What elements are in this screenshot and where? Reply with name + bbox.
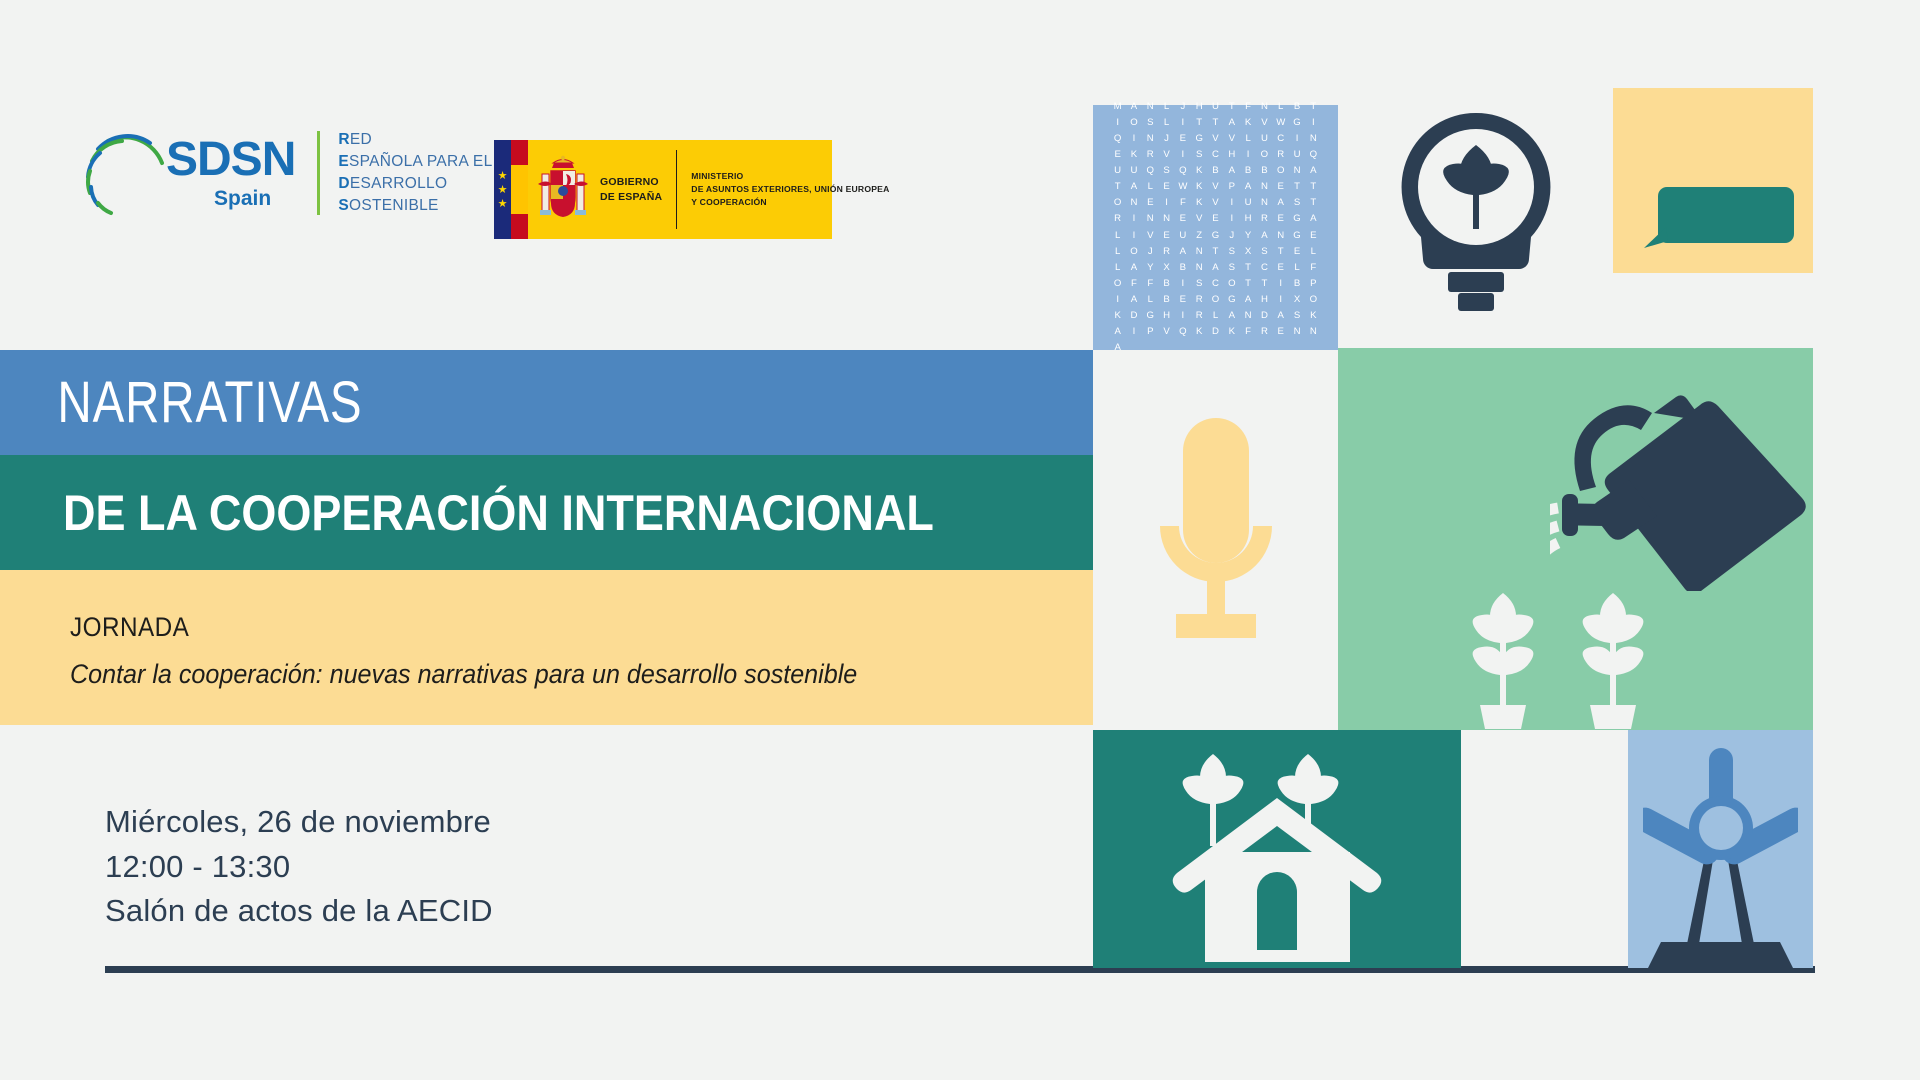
puzzle-letter: I: [1110, 115, 1126, 131]
sdsn-wordmark: SDSN Spain: [166, 136, 295, 209]
puzzle-letter: L: [1158, 99, 1174, 115]
speech-bubble-icon: [1644, 187, 1794, 249]
puzzle-letter: S: [1256, 244, 1272, 260]
eu-star-icon: ★: [498, 173, 508, 179]
ministry-line-2: DE ASUNTOS EXTERIORES, UNIÓN EUROPEA: [691, 183, 889, 196]
puzzle-letter: U: [1207, 99, 1223, 115]
puzzle-letter: T: [1273, 244, 1289, 260]
jornada-band: JORNADA Contar la cooperación: nuevas na…: [0, 570, 1093, 725]
puzzle-letter: E: [1142, 195, 1158, 211]
puzzle-letter: L: [1305, 244, 1321, 260]
microphone-tile: [1093, 350, 1338, 730]
puzzle-letter: A: [1305, 211, 1321, 227]
puzzle-letter: A: [1224, 115, 1240, 131]
puzzle-letter: E: [1305, 228, 1321, 244]
puzzle-letter: H: [1256, 292, 1272, 308]
puzzle-letter: E: [1273, 260, 1289, 276]
puzzle-letter: W: [1273, 115, 1289, 131]
puzzle-letter: T: [1207, 244, 1223, 260]
event-date: Miércoles, 26 de noviembre: [105, 800, 493, 845]
puzzle-letter: S: [1158, 163, 1174, 179]
puzzle-letter: U: [1110, 163, 1126, 179]
tagline-rest-r: ED: [350, 131, 372, 148]
microphone-icon: [1143, 418, 1288, 663]
puzzle-letter: K: [1191, 324, 1207, 340]
tagline-rest-s: OSTENIBLE: [349, 197, 439, 214]
puzzle-letter: E: [1273, 324, 1289, 340]
puzzle-letter: N: [1256, 99, 1272, 115]
puzzle-letter: R: [1191, 292, 1207, 308]
puzzle-letter: L: [1289, 260, 1305, 276]
sdsn-spain-logo: SDSN Spain RED ESPAÑOLA PARA EL DESARROL…: [78, 125, 493, 220]
puzzle-letter: I: [1175, 147, 1191, 163]
puzzle-letter: G: [1289, 228, 1305, 244]
puzzle-letter: O: [1126, 115, 1142, 131]
puzzle-letter: G: [1289, 115, 1305, 131]
puzzle-letter: C: [1207, 147, 1223, 163]
puzzle-letter: T: [1305, 99, 1321, 115]
puzzle-letter: T: [1305, 179, 1321, 195]
puzzle-letter: Q: [1175, 163, 1191, 179]
eu-star-icon: ★: [498, 201, 508, 207]
puzzle-letter: A: [1224, 308, 1240, 324]
title-band-cooperacion: DE LA COOPERACIÓN INTERNACIONAL: [0, 455, 1093, 570]
puzzle-letter: A: [1126, 99, 1142, 115]
puzzle-letter: P: [1142, 324, 1158, 340]
puzzle-letter: S: [1191, 147, 1207, 163]
puzzle-letter: B: [1175, 260, 1191, 276]
puzzle-letter: U: [1126, 163, 1142, 179]
puzzle-letter: E: [1289, 244, 1305, 260]
puzzle-letter: I: [1273, 292, 1289, 308]
puzzle-letter: N: [1273, 228, 1289, 244]
puzzle-letter: R: [1110, 211, 1126, 227]
header-logos: SDSN Spain RED ESPAÑOLA PARA EL DESARROL…: [0, 0, 1100, 348]
puzzle-letter: T: [1305, 195, 1321, 211]
puzzle-letter: A: [1175, 244, 1191, 260]
puzzle-letter: J: [1158, 131, 1174, 147]
puzzle-letter: T: [1240, 260, 1256, 276]
spain-coat-of-arms-icon: [536, 154, 590, 226]
puzzle-letter: Q: [1142, 163, 1158, 179]
puzzle-letter: N: [1256, 195, 1272, 211]
watering-can-tile: [1338, 348, 1813, 730]
puzzle-letter: O: [1207, 292, 1223, 308]
puzzle-letter: T: [1224, 99, 1240, 115]
puzzle-letter: T: [1289, 179, 1305, 195]
puzzle-letter: I: [1175, 276, 1191, 292]
speech-bubble-tile: [1613, 88, 1813, 273]
puzzle-letter: O: [1273, 163, 1289, 179]
puzzle-letter: V: [1256, 115, 1272, 131]
puzzle-letter: B: [1158, 276, 1174, 292]
puzzle-letter: N: [1142, 211, 1158, 227]
puzzle-letter: O: [1305, 292, 1321, 308]
puzzle-letter: L: [1142, 179, 1158, 195]
puzzle-letter: M: [1110, 99, 1126, 115]
puzzle-letter: I: [1289, 131, 1305, 147]
puzzle-letter: A: [1273, 308, 1289, 324]
puzzle-letter: U: [1240, 195, 1256, 211]
puzzle-letter: G: [1224, 292, 1240, 308]
puzzle-letter: V: [1207, 195, 1223, 211]
puzzle-letter: I: [1175, 115, 1191, 131]
puzzle-letter: A: [1273, 195, 1289, 211]
puzzle-letter: L: [1110, 244, 1126, 260]
puzzle-letter: N: [1289, 324, 1305, 340]
eu-star-icon: ★: [498, 187, 508, 193]
puzzle-letter: B: [1256, 163, 1272, 179]
puzzle-letter: I: [1175, 308, 1191, 324]
puzzle-letter: A: [1240, 179, 1256, 195]
wind-turbine-icon: [1643, 746, 1798, 968]
title-line-1: NARRATIVAS: [0, 369, 362, 436]
puzzle-letter: R: [1273, 147, 1289, 163]
wind-turbine-tile: [1628, 730, 1813, 968]
sdsn-acronym: SDSN: [166, 136, 295, 184]
puzzle-letter: V: [1142, 228, 1158, 244]
puzzle-letter: D: [1256, 308, 1272, 324]
puzzle-letter: W: [1175, 179, 1191, 195]
puzzle-letter: S: [1191, 276, 1207, 292]
tagline-initial-d: D: [338, 175, 350, 192]
spain-flag-icon: [511, 140, 528, 239]
title-line-2: DE LA COOPERACIÓN INTERNACIONAL: [0, 484, 934, 542]
puzzle-letter: R: [1256, 211, 1272, 227]
puzzle-letter: I: [1126, 131, 1142, 147]
footer-rule: [105, 966, 1815, 973]
puzzle-letter: K: [1240, 115, 1256, 131]
jornada-subtitle: Contar la cooperación: nuevas narrativas…: [70, 659, 1021, 690]
sdsn-swirl-icon: [78, 127, 170, 219]
puzzle-letter: B: [1207, 163, 1223, 179]
puzzle-letter: D: [1207, 324, 1223, 340]
puzzle-letter: C: [1273, 131, 1289, 147]
puzzle-letter: L: [1207, 308, 1223, 324]
word-search-grid: MANLJHUTFNLBTIOSLITTAKVWGIQINJEGVVLUCINE…: [1110, 99, 1322, 357]
puzzle-letter: B: [1158, 292, 1174, 308]
puzzle-letter: J: [1224, 228, 1240, 244]
house-tile: [1093, 730, 1461, 968]
puzzle-letter: B: [1289, 99, 1305, 115]
puzzle-letter: V: [1158, 324, 1174, 340]
sdsn-divider: [317, 131, 320, 215]
title-band-narrativas: NARRATIVAS: [0, 350, 1093, 455]
puzzle-letter: E: [1175, 211, 1191, 227]
puzzle-letter: O: [1256, 147, 1272, 163]
puzzle-letter: V: [1191, 211, 1207, 227]
house-plants-icon: [1165, 740, 1390, 968]
puzzle-letter: E: [1273, 211, 1289, 227]
tagline-initial-r: R: [338, 131, 350, 148]
puzzle-letter: K: [1126, 147, 1142, 163]
puzzle-letter: J: [1175, 99, 1191, 115]
tagline-rest-e: SPAÑOLA PARA EL: [349, 153, 493, 170]
puzzle-letter: S: [1289, 308, 1305, 324]
puzzle-letter: N: [1191, 244, 1207, 260]
puzzle-letter: Q: [1305, 147, 1321, 163]
puzzle-letter: L: [1142, 292, 1158, 308]
puzzle-letter: Q: [1175, 324, 1191, 340]
puzzle-letter: K: [1305, 308, 1321, 324]
puzzle-letter: I: [1126, 228, 1142, 244]
puzzle-letter: L: [1240, 131, 1256, 147]
puzzle-letter: C: [1207, 276, 1223, 292]
puzzle-letter: I: [1240, 147, 1256, 163]
puzzle-letter: O: [1110, 195, 1126, 211]
puzzle-letter: H: [1191, 99, 1207, 115]
puzzle-letter: P: [1305, 276, 1321, 292]
eu-flag-icon: ★ ★ ★: [494, 140, 511, 239]
puzzle-letter: N: [1289, 163, 1305, 179]
puzzle-letter: Y: [1240, 228, 1256, 244]
puzzle-letter: E: [1175, 131, 1191, 147]
potted-plants-group: [1458, 583, 1688, 730]
ministry-line-3: Y COOPERACIÓN: [691, 196, 889, 209]
puzzle-letter: G: [1142, 308, 1158, 324]
puzzle-letter: F: [1305, 260, 1321, 276]
ministry-line-1: MINISTERIO: [691, 170, 889, 183]
puzzle-letter: B: [1240, 163, 1256, 179]
puzzle-letter: R: [1191, 308, 1207, 324]
puzzle-letter: N: [1126, 195, 1142, 211]
puzzle-letter: S: [1224, 244, 1240, 260]
puzzle-letter: N: [1142, 99, 1158, 115]
word-search-panel: MANLJHUTFNLBTIOSLITTAKVWGIQINJEGVVLUCINE…: [1093, 105, 1338, 350]
puzzle-letter: T: [1191, 115, 1207, 131]
puzzle-letter: Y: [1142, 260, 1158, 276]
puzzle-letter: K: [1191, 179, 1207, 195]
puzzle-letter: I: [1224, 211, 1240, 227]
puzzle-letter: X: [1289, 292, 1305, 308]
puzzle-letter: J: [1142, 244, 1158, 260]
puzzle-letter: L: [1273, 99, 1289, 115]
puzzle-letter: A: [1256, 228, 1272, 244]
puzzle-letter: I: [1126, 211, 1142, 227]
puzzle-letter: Z: [1191, 228, 1207, 244]
puzzle-letter: A: [1305, 163, 1321, 179]
puzzle-letter: N: [1158, 211, 1174, 227]
tagline-initial-e: E: [338, 153, 349, 170]
puzzle-letter: V: [1224, 131, 1240, 147]
puzzle-letter: E: [1158, 228, 1174, 244]
puzzle-letter: A: [1207, 260, 1223, 276]
jornada-label: JORNADA: [70, 612, 991, 643]
puzzle-letter: V: [1207, 131, 1223, 147]
puzzle-letter: F: [1126, 276, 1142, 292]
puzzle-letter: E: [1207, 211, 1223, 227]
puzzle-letter: S: [1289, 195, 1305, 211]
puzzle-letter: F: [1142, 276, 1158, 292]
puzzle-letter: A: [1126, 292, 1142, 308]
puzzle-letter: N: [1305, 131, 1321, 147]
sdsn-tagline: RED ESPAÑOLA PARA EL DESARROLLO SOSTENIB…: [338, 129, 492, 217]
puzzle-letter: C: [1256, 260, 1272, 276]
puzzle-letter: K: [1224, 324, 1240, 340]
puzzle-letter: R: [1142, 147, 1158, 163]
puzzle-letter: H: [1240, 211, 1256, 227]
puzzle-letter: N: [1305, 324, 1321, 340]
puzzle-letter: F: [1175, 195, 1191, 211]
puzzle-letter: A: [1110, 324, 1126, 340]
flag-strip: ★ ★ ★: [494, 140, 528, 239]
puzzle-letter: L: [1110, 260, 1126, 276]
puzzle-letter: P: [1224, 179, 1240, 195]
ministry-body: GOBIERNO DE ESPAÑA MINISTERIO DE ASUNTOS…: [528, 140, 890, 239]
puzzle-letter: N: [1240, 308, 1256, 324]
puzzle-letter: O: [1224, 276, 1240, 292]
puzzle-letter: H: [1158, 308, 1174, 324]
puzzle-letter: F: [1240, 99, 1256, 115]
lightbulb-tile: [1338, 75, 1613, 348]
puzzle-letter: N: [1191, 260, 1207, 276]
puzzle-letter: H: [1224, 147, 1240, 163]
watering-can-icon: [1550, 386, 1810, 591]
puzzle-letter: I: [1305, 115, 1321, 131]
lightbulb-plant-icon: [1391, 109, 1561, 314]
puzzle-letter: O: [1126, 244, 1142, 260]
puzzle-letter: E: [1175, 292, 1191, 308]
puzzle-letter: V: [1158, 147, 1174, 163]
puzzle-letter: X: [1158, 260, 1174, 276]
puzzle-letter: E: [1158, 179, 1174, 195]
puzzle-letter: S: [1224, 260, 1240, 276]
puzzle-letter: T: [1110, 179, 1126, 195]
puzzle-letter: Q: [1110, 131, 1126, 147]
puzzle-letter: O: [1110, 276, 1126, 292]
puzzle-letter: E: [1110, 147, 1126, 163]
puzzle-letter: I: [1273, 276, 1289, 292]
puzzle-letter: G: [1289, 211, 1305, 227]
puzzle-letter: D: [1126, 308, 1142, 324]
puzzle-letter: E: [1273, 179, 1289, 195]
puzzle-letter: S: [1142, 115, 1158, 131]
event-time: 12:00 - 13:30: [105, 845, 493, 890]
puzzle-letter: F: [1240, 324, 1256, 340]
puzzle-letter: A: [1224, 163, 1240, 179]
puzzle-letter: L: [1110, 228, 1126, 244]
puzzle-letter: B: [1289, 276, 1305, 292]
event-details: Miércoles, 26 de noviembre 12:00 - 13:30…: [105, 800, 493, 934]
event-venue: Salón de actos de la AECID: [105, 889, 493, 934]
puzzle-letter: A: [1126, 179, 1142, 195]
puzzle-letter: R: [1256, 324, 1272, 340]
puzzle-letter: I: [1224, 195, 1240, 211]
government-line-2: DE ESPAÑA: [600, 190, 662, 204]
puzzle-letter: I: [1158, 195, 1174, 211]
government-text: GOBIERNO DE ESPAÑA: [600, 175, 662, 203]
sdsn-subtitle: Spain: [214, 188, 295, 209]
puzzle-letter: U: [1175, 228, 1191, 244]
puzzle-letter: K: [1110, 308, 1126, 324]
puzzle-letter: I: [1110, 292, 1126, 308]
puzzle-letter: T: [1240, 276, 1256, 292]
puzzle-letter: A: [1240, 292, 1256, 308]
ministry-text: MINISTERIO DE ASUNTOS EXTERIORES, UNIÓN …: [691, 170, 889, 209]
puzzle-letter: T: [1256, 276, 1272, 292]
puzzle-letter: L: [1158, 115, 1174, 131]
puzzle-letter: A: [1126, 260, 1142, 276]
puzzle-letter: R: [1158, 244, 1174, 260]
tagline-initial-s: S: [338, 197, 349, 214]
puzzle-letter: G: [1207, 228, 1223, 244]
puzzle-letter: K: [1191, 195, 1207, 211]
puzzle-letter: N: [1256, 179, 1272, 195]
tagline-rest-d: ESARROLLO: [350, 175, 447, 192]
puzzle-letter: I: [1126, 324, 1142, 340]
ministry-logo: ★ ★ ★: [494, 140, 832, 239]
puzzle-letter: N: [1142, 131, 1158, 147]
puzzle-letter: G: [1191, 131, 1207, 147]
puzzle-letter: T: [1207, 115, 1223, 131]
puzzle-letter: K: [1191, 163, 1207, 179]
puzzle-letter: U: [1289, 147, 1305, 163]
puzzle-letter: V: [1207, 179, 1223, 195]
ministry-separator: [676, 150, 677, 229]
puzzle-letter: X: [1240, 244, 1256, 260]
government-line-1: GOBIERNO: [600, 175, 662, 189]
puzzle-letter: U: [1256, 131, 1272, 147]
